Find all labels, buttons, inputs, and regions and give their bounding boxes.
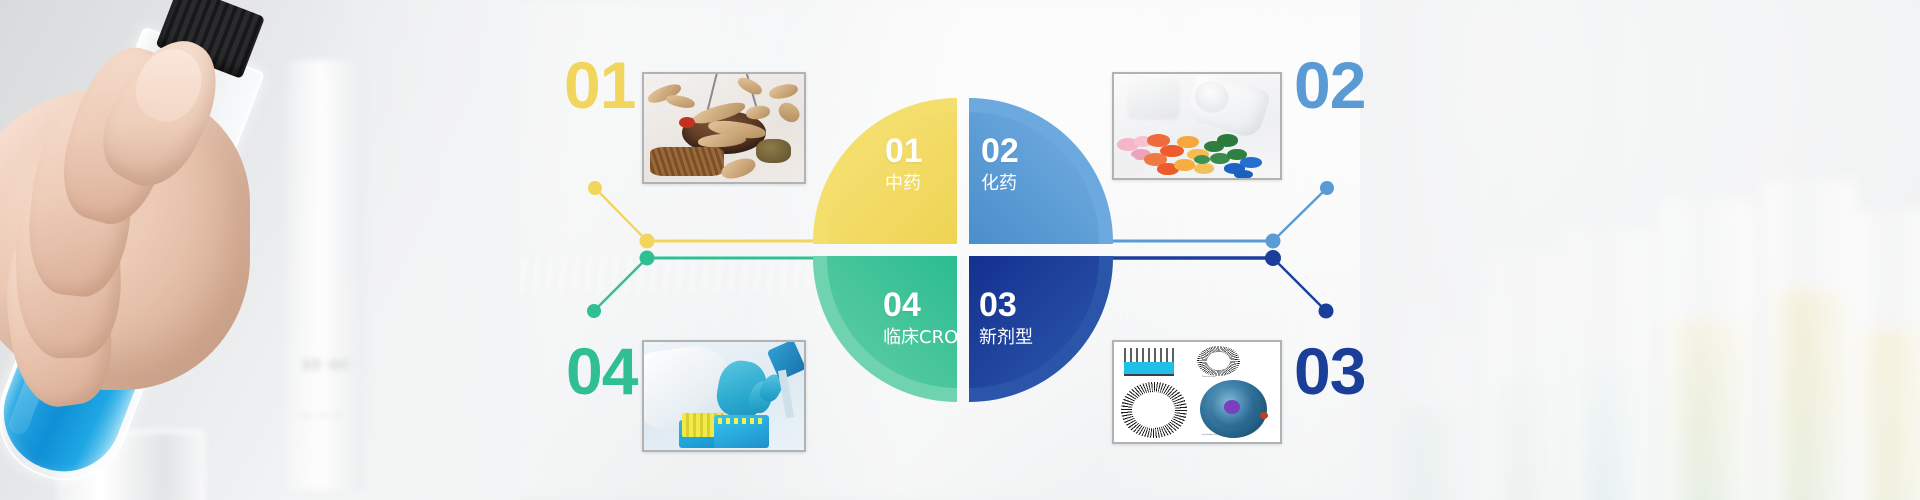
wheel-number-03: 03 [979, 288, 1033, 322]
thumbnail-02-pills[interactable] [1112, 72, 1282, 180]
wheel-text-02: 化药 [981, 173, 1019, 195]
callout-number-01: 01 [564, 52, 635, 118]
thumbnail-01-herbs[interactable] [642, 72, 806, 184]
wheel-text-03: 新剂型 [979, 327, 1033, 349]
callout-number-03: 03 [1294, 338, 1365, 404]
wheel-label-03: 03 新剂型 [979, 288, 1033, 349]
wheel-text-01: 中药 [885, 173, 923, 195]
segmented-wheel: 01 中药 02 化药 03 新剂型 04 临床CRO [813, 98, 1113, 402]
wheel-label-04: 04 临床CRO [883, 288, 958, 349]
callout-number-02: 02 [1294, 52, 1365, 118]
wheel-label-02: 02 化药 [981, 134, 1019, 195]
thumbnail-03-formulation-diagram[interactable]: Protective layer Drug loaded core coatin… [1112, 340, 1282, 444]
wheel-text-04: 临床CRO [883, 327, 958, 349]
wheel-number-01: 01 [885, 134, 923, 168]
thumbnail-04-lab-technician[interactable] [642, 340, 806, 452]
wheel-number-04: 04 [883, 288, 958, 322]
wheel-label-01: 01 中药 [885, 134, 923, 195]
callout-number-04: 04 [566, 338, 637, 404]
banner-canvas: 10 ml — — — [0, 0, 1920, 500]
wheel-number-02: 02 [981, 134, 1019, 168]
